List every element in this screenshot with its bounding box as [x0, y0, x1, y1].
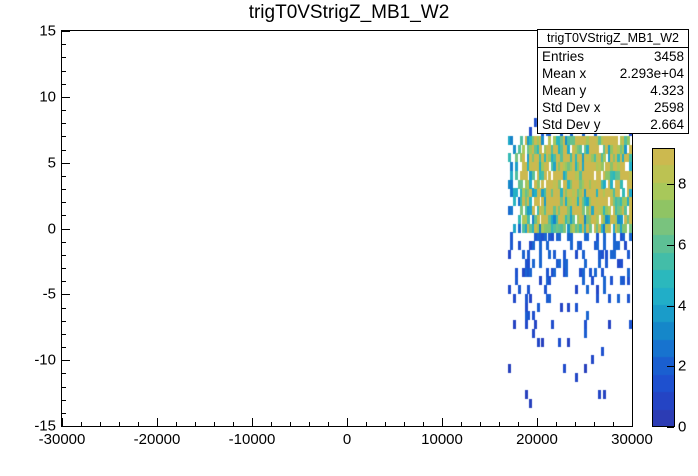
x-tick-label: 0	[343, 431, 351, 448]
z-tick-label: 4	[678, 298, 686, 315]
x-minor-tick	[233, 422, 234, 427]
colorbar-gradient	[652, 148, 675, 427]
x-major-tick	[632, 418, 633, 427]
x-major-tick	[252, 418, 253, 427]
x-minor-tick	[81, 422, 82, 427]
stats-row: Entries3458	[538, 48, 688, 65]
stats-row: Std Dev x2598	[538, 99, 688, 116]
y-minor-tick	[61, 71, 66, 72]
z-tick-mark	[667, 184, 674, 185]
y-minor-tick	[61, 189, 66, 190]
stats-row-value: 2.664	[650, 116, 684, 133]
y-minor-tick	[61, 123, 66, 124]
y-minor-tick	[61, 215, 66, 216]
y-major-tick	[61, 163, 70, 164]
y-tick-label: 10	[14, 89, 56, 106]
y-minor-tick	[61, 176, 66, 177]
x-minor-tick	[195, 422, 196, 427]
y-tick-label: -15	[14, 418, 56, 435]
x-major-tick	[157, 418, 158, 427]
stats-row-value: 4.323	[650, 82, 684, 99]
plot-canvas: trigT0VStrigZ_MB1_W2 -30000-20000-100000…	[0, 0, 698, 476]
z-tick-mark	[667, 366, 674, 367]
x-minor-tick	[556, 422, 557, 427]
y-minor-tick	[61, 268, 66, 269]
x-minor-tick	[480, 422, 481, 427]
y-minor-tick	[61, 255, 66, 256]
z-tick-label: 6	[678, 237, 686, 254]
stats-box-title: trigT0VStrigZ_MB1_W2	[538, 30, 688, 48]
x-minor-tick	[309, 422, 310, 427]
y-tick-label: 5	[14, 155, 56, 172]
x-minor-tick	[404, 422, 405, 427]
x-minor-tick	[138, 422, 139, 427]
y-minor-tick	[61, 242, 66, 243]
x-tick-label: 10000	[421, 431, 463, 448]
z-tick-label: 2	[678, 358, 686, 375]
y-major-tick	[61, 360, 70, 361]
z-tick-mark	[667, 306, 674, 307]
x-tick-label: -20000	[134, 431, 181, 448]
x-minor-tick	[613, 422, 614, 427]
stats-row-label: Std Dev y	[542, 116, 601, 133]
y-minor-tick	[61, 387, 66, 388]
x-minor-tick	[575, 422, 576, 427]
y-minor-tick	[61, 413, 66, 414]
stats-row: Mean y4.323	[538, 82, 688, 99]
y-minor-tick	[61, 334, 66, 335]
y-minor-tick	[61, 373, 66, 374]
y-major-tick	[61, 31, 70, 32]
stats-row-value: 3458	[654, 48, 684, 65]
x-minor-tick	[100, 422, 101, 427]
y-minor-tick	[61, 57, 66, 58]
y-minor-tick	[61, 347, 66, 348]
y-minor-tick	[61, 400, 66, 401]
y-minor-tick	[61, 44, 66, 45]
stats-row-label: Entries	[542, 48, 584, 65]
y-minor-tick	[61, 110, 66, 111]
stats-row: Mean x2.293e+04	[538, 65, 688, 82]
x-minor-tick	[290, 422, 291, 427]
y-major-tick	[61, 294, 70, 295]
y-tick-label: 0	[14, 221, 56, 238]
y-minor-tick	[61, 321, 66, 322]
z-tick-mark	[667, 427, 674, 428]
y-tick-label: 15	[14, 23, 56, 40]
x-minor-tick	[518, 422, 519, 427]
x-minor-tick	[271, 422, 272, 427]
y-minor-tick	[61, 281, 66, 282]
y-tick-label: -5	[14, 286, 56, 303]
y-minor-tick	[61, 308, 66, 309]
x-minor-tick	[461, 422, 462, 427]
x-minor-tick	[366, 422, 367, 427]
y-major-tick	[61, 229, 70, 230]
z-tick-mark	[667, 245, 674, 246]
z-tick-label: 0	[678, 419, 686, 436]
stats-row-label: Std Dev x	[542, 99, 601, 116]
x-major-tick	[537, 418, 538, 427]
x-major-tick	[442, 418, 443, 427]
x-tick-label: -10000	[229, 431, 276, 448]
stats-rows: Entries3458Mean x2.293e+04Mean y4.323Std…	[538, 48, 688, 133]
x-tick-label: 20000	[516, 431, 558, 448]
x-minor-tick	[499, 422, 500, 427]
x-minor-tick	[423, 422, 424, 427]
y-major-tick	[61, 426, 70, 427]
stats-row: Std Dev y2.664	[538, 116, 688, 133]
y-minor-tick	[61, 84, 66, 85]
stats-row-label: Mean y	[542, 82, 586, 99]
x-minor-tick	[328, 422, 329, 427]
stats-box: trigT0VStrigZ_MB1_W2 Entries3458Mean x2.…	[537, 29, 689, 134]
stats-row-value: 2598	[654, 99, 684, 116]
x-minor-tick	[119, 422, 120, 427]
stats-row-label: Mean x	[542, 65, 586, 82]
z-tick-label: 8	[678, 176, 686, 193]
x-tick-label: 30000	[611, 431, 653, 448]
x-major-tick	[347, 418, 348, 427]
y-minor-tick	[61, 136, 66, 137]
x-minor-tick	[594, 422, 595, 427]
y-major-tick	[61, 97, 70, 98]
y-minor-tick	[61, 150, 66, 151]
stats-row-value: 2.293e+04	[620, 65, 684, 82]
x-minor-tick	[385, 422, 386, 427]
x-minor-tick	[214, 422, 215, 427]
page-title: trigT0VStrigZ_MB1_W2	[0, 2, 698, 24]
y-minor-tick	[61, 202, 66, 203]
y-tick-label: -10	[14, 352, 56, 369]
x-minor-tick	[176, 422, 177, 427]
